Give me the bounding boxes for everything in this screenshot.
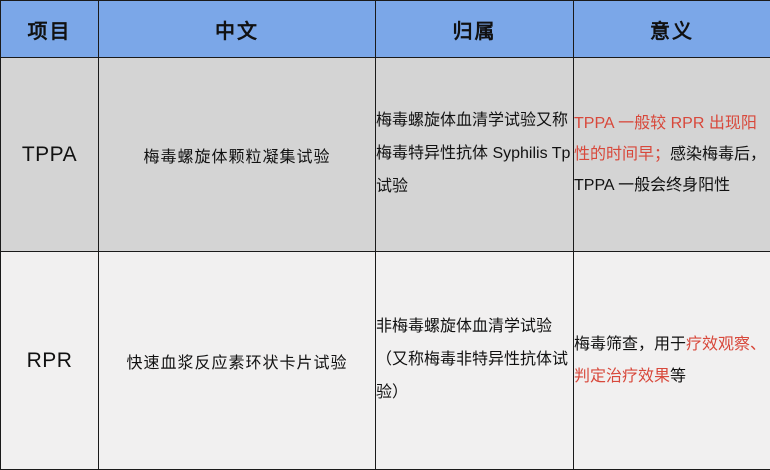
column-header-meaning: 意义	[574, 1, 770, 58]
cell-item-rpr: RPR	[1, 252, 99, 470]
cell-item-tppa: TPPA	[1, 58, 99, 252]
table-row: TPPA 梅毒螺旋体颗粒凝集试验 梅毒螺旋体血清学试验又称梅毒特异性抗体 Syp…	[1, 58, 770, 252]
table-row: RPR 快速血浆反应素环状卡片试验 非梅毒螺旋体血清学试验（又称梅毒非特异性抗体…	[1, 252, 770, 470]
cell-belong-tppa: 梅毒螺旋体血清学试验又称梅毒特异性抗体 Syphilis Tp 试验	[376, 58, 574, 252]
tppa-rpr-comparison-table: 项目 中文 归属 意义 TPPA 梅毒螺旋体颗粒凝集试验 梅毒螺旋体血清学试验又…	[0, 0, 770, 470]
cell-meaning-tppa: TPPA 一般较 RPR 出现阳性的时间早；感染梅毒后，TPPA 一般会终身阳性	[574, 58, 770, 252]
cell-chinese-rpr: 快速血浆反应素环状卡片试验	[99, 252, 376, 470]
column-header-belong: 归属	[376, 1, 574, 58]
header-row: 项目 中文 归属 意义	[1, 1, 770, 58]
column-header-chinese: 中文	[99, 1, 376, 58]
cell-chinese-tppa: 梅毒螺旋体颗粒凝集试验	[99, 58, 376, 252]
column-header-item: 项目	[1, 1, 99, 58]
plain-text: 梅毒筛查，用于	[574, 336, 686, 353]
cell-meaning-rpr: 梅毒筛查，用于疗效观察、判定治疗效果等	[574, 252, 770, 470]
cell-belong-rpr: 非梅毒螺旋体血清学试验（又称梅毒非特异性抗体试验）	[376, 252, 574, 470]
plain-text: 等	[670, 368, 686, 385]
table-body: TPPA 梅毒螺旋体颗粒凝集试验 梅毒螺旋体血清学试验又称梅毒特异性抗体 Syp…	[1, 58, 770, 470]
table-header: 项目 中文 归属 意义	[1, 1, 770, 58]
